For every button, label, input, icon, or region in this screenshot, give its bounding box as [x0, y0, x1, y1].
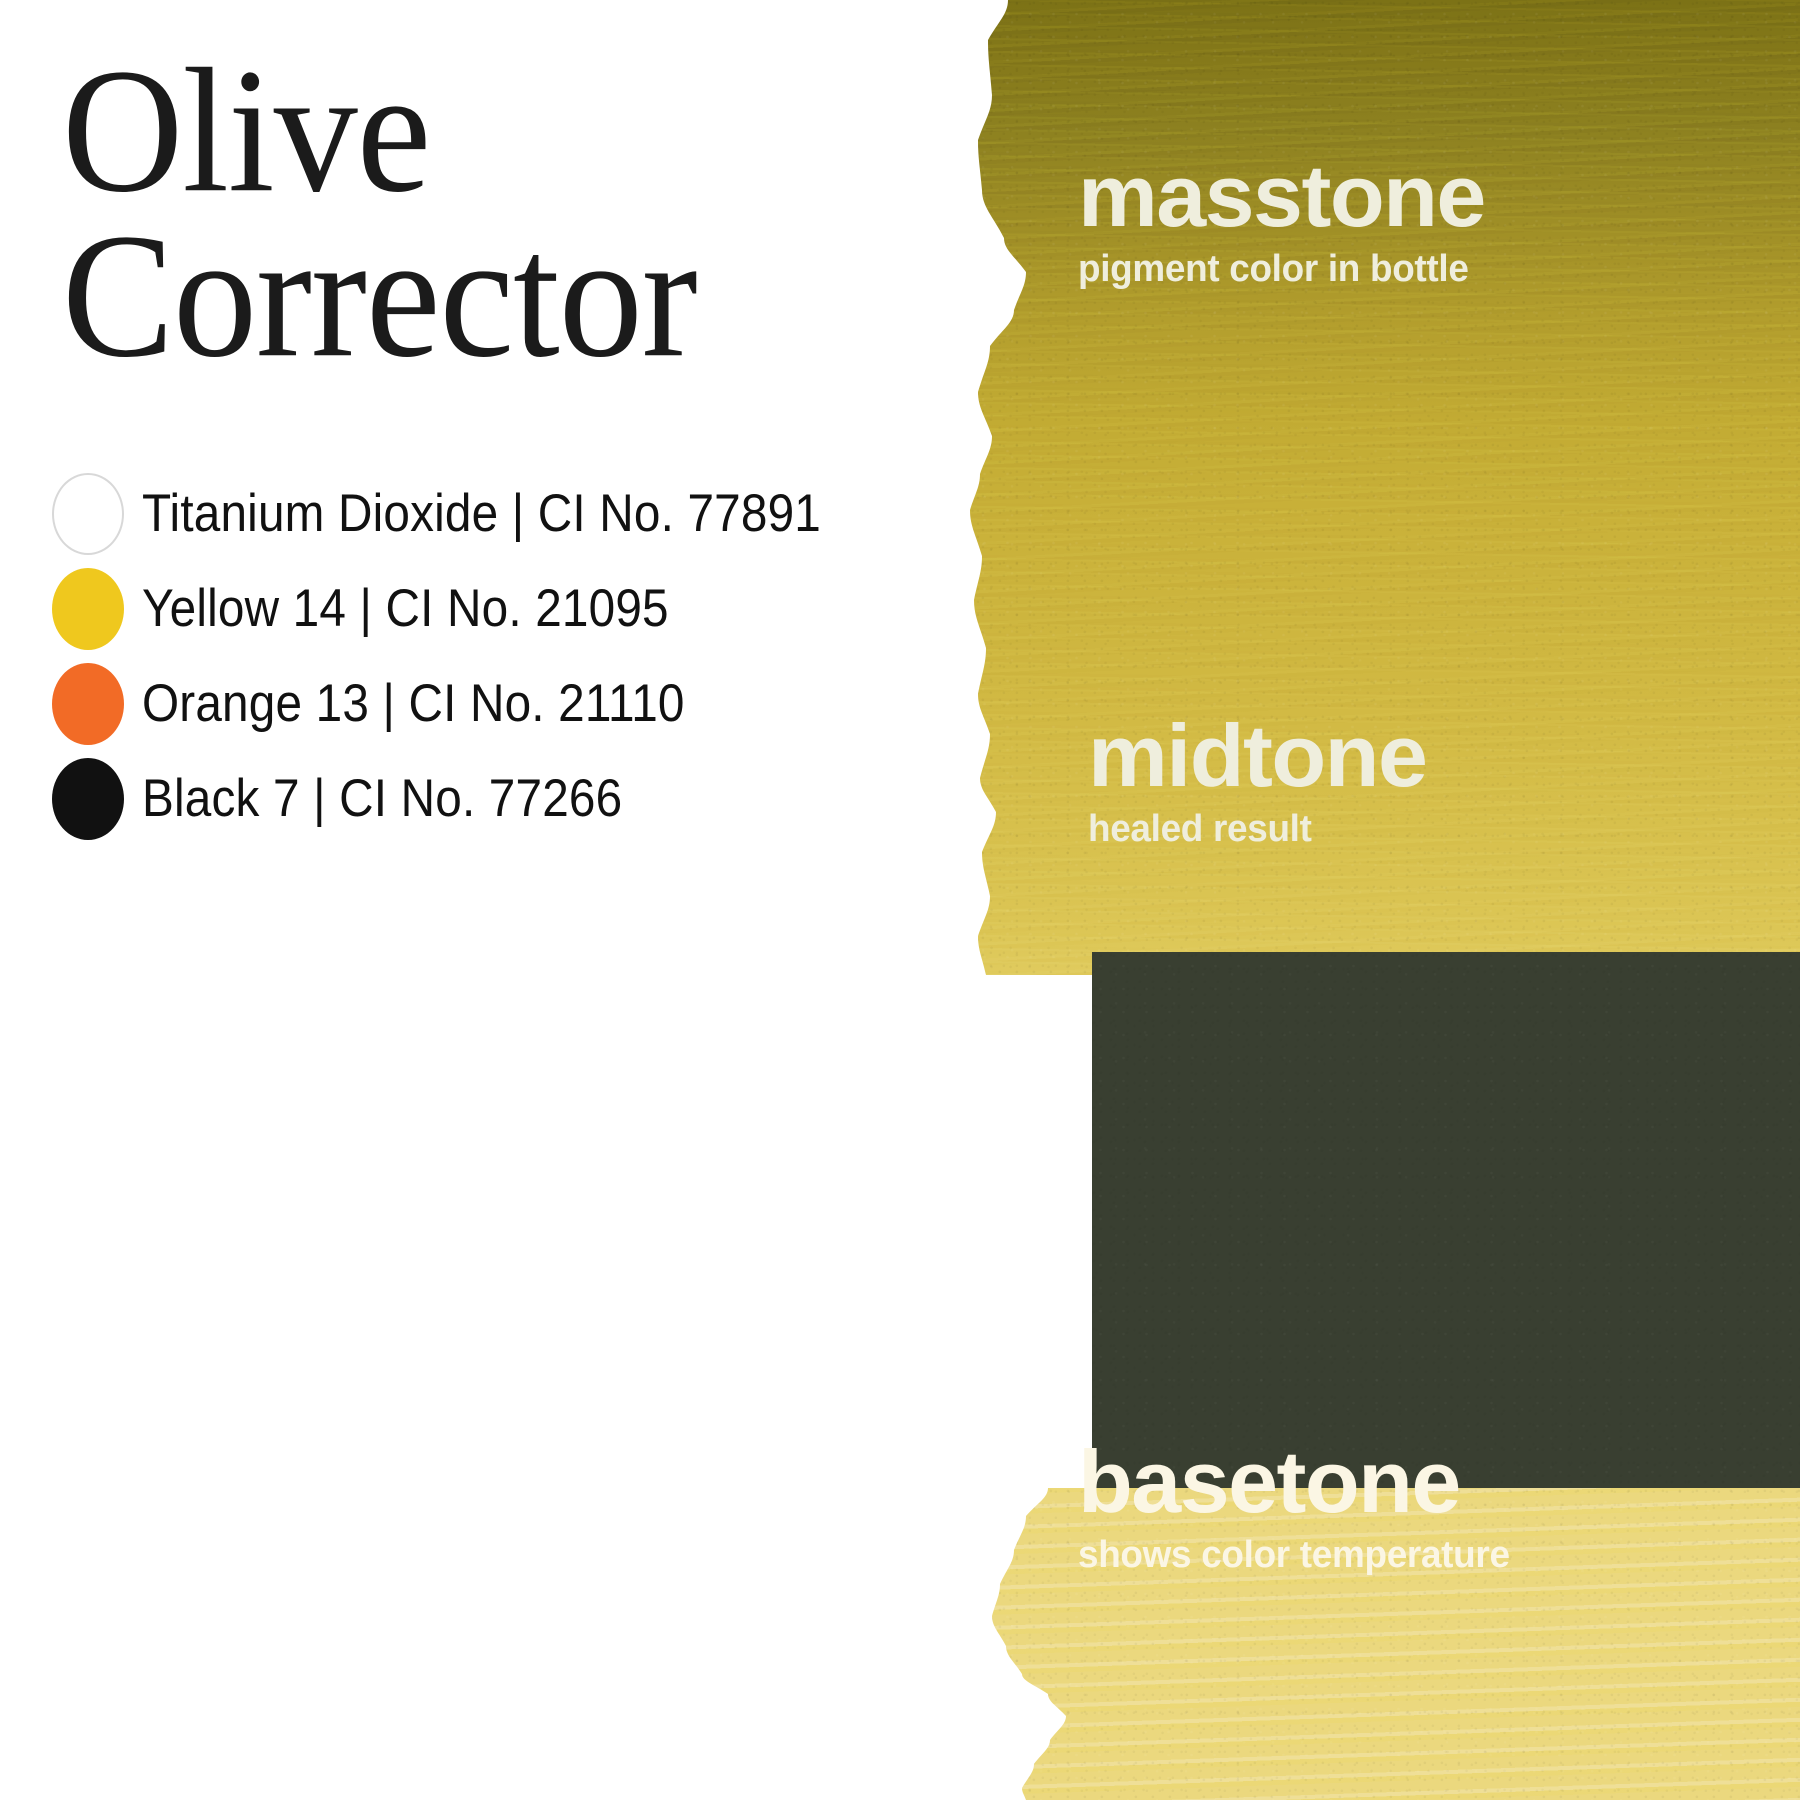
midtone-swatch — [1092, 952, 1800, 1488]
pigment-swatch-dot — [52, 568, 124, 650]
masstone-label-group: masstone pigment color in bottle — [1078, 152, 1481, 288]
pigment-label: Black 7 | CI No. 77266 — [142, 768, 622, 829]
pigment-label: Yellow 14 | CI No. 21095 — [142, 578, 669, 639]
pigment-list: Titanium Dioxide | CI No. 77891 Yellow 1… — [52, 466, 952, 846]
pigment-label: Titanium Dioxide | CI No. 77891 — [142, 483, 821, 544]
masstone-subtitle: pigment color in bottle — [1078, 250, 1469, 288]
pigment-swatch-card: Olive Corrector Titanium Dioxide | CI No… — [0, 0, 1800, 1800]
basetone-label-group: basetone shows color temperature — [1078, 1438, 1523, 1574]
midtone-paper-grain — [1092, 952, 1800, 1488]
list-item: Black 7 | CI No. 77266 — [52, 751, 952, 846]
pigment-swatch-dot — [52, 758, 124, 840]
pigment-swatch-dot — [52, 663, 124, 745]
midtone-title: midtone — [1088, 712, 1426, 800]
midtone-subtitle: healed result — [1088, 810, 1410, 848]
list-item: Titanium Dioxide | CI No. 77891 — [52, 466, 952, 561]
info-column: Olive Corrector Titanium Dioxide | CI No… — [0, 0, 950, 1800]
page-title-line-1: Olive — [62, 44, 942, 219]
tone-swatch-column: masstone pigment color in bottle midtone… — [930, 0, 1800, 1800]
pigment-label: Orange 13 | CI No. 21110 — [142, 673, 685, 734]
page-title: Olive Corrector — [62, 44, 942, 373]
list-item: Orange 13 | CI No. 21110 — [52, 656, 952, 751]
basetone-subtitle: shows color temperature — [1078, 1536, 1510, 1574]
masstone-title: masstone — [1078, 152, 1489, 240]
midtone-label-group: midtone healed result — [1088, 712, 1420, 848]
basetone-title: basetone — [1078, 1438, 1532, 1526]
pigment-swatch-dot — [52, 473, 124, 555]
list-item: Yellow 14 | CI No. 21095 — [52, 561, 952, 656]
page-title-line-2: Corrector — [62, 209, 942, 384]
